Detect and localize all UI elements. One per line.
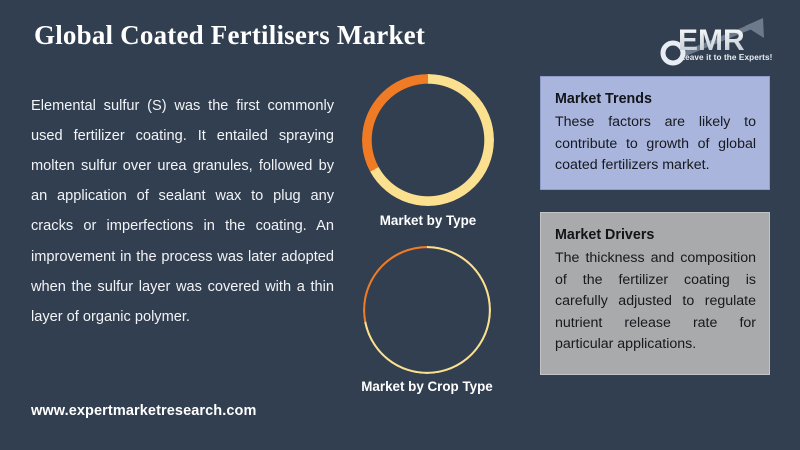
donut-chart-market-by-crop-type — [363, 246, 491, 374]
chart-market-by-crop-type: Market by Crop Type — [352, 246, 502, 394]
panel-market-trends: Market Trends These factors are likely t… — [540, 76, 770, 190]
chart-label-market-by-type: Market by Type — [358, 213, 498, 228]
footer-website-url: www.expertmarketresearch.com — [31, 403, 257, 419]
panel-market-trends-title: Market Trends — [555, 89, 756, 109]
chart-market-by-type: Market by Type — [358, 74, 498, 228]
page-title: Global Coated Fertilisers Market — [34, 20, 425, 51]
emr-logo: EMR Leave it to the Experts! — [660, 14, 778, 66]
donut-chart-market-by-type — [362, 74, 494, 206]
chart-label-market-by-crop-type: Market by Crop Type — [352, 379, 502, 394]
panel-market-drivers: Market Drivers The thickness and composi… — [540, 212, 770, 375]
panel-market-drivers-title: Market Drivers — [555, 225, 756, 245]
emr-logo-graphic: EMR Leave it to the Experts! — [660, 14, 778, 66]
body-copy: Elemental sulfur (S) was the first commo… — [31, 91, 334, 333]
panel-market-trends-text: These factors are likely to contribute t… — [555, 112, 756, 177]
emr-tagline: Leave it to the Experts! — [680, 53, 773, 62]
panel-market-drivers-text: The thickness and composition of the fer… — [555, 248, 756, 356]
